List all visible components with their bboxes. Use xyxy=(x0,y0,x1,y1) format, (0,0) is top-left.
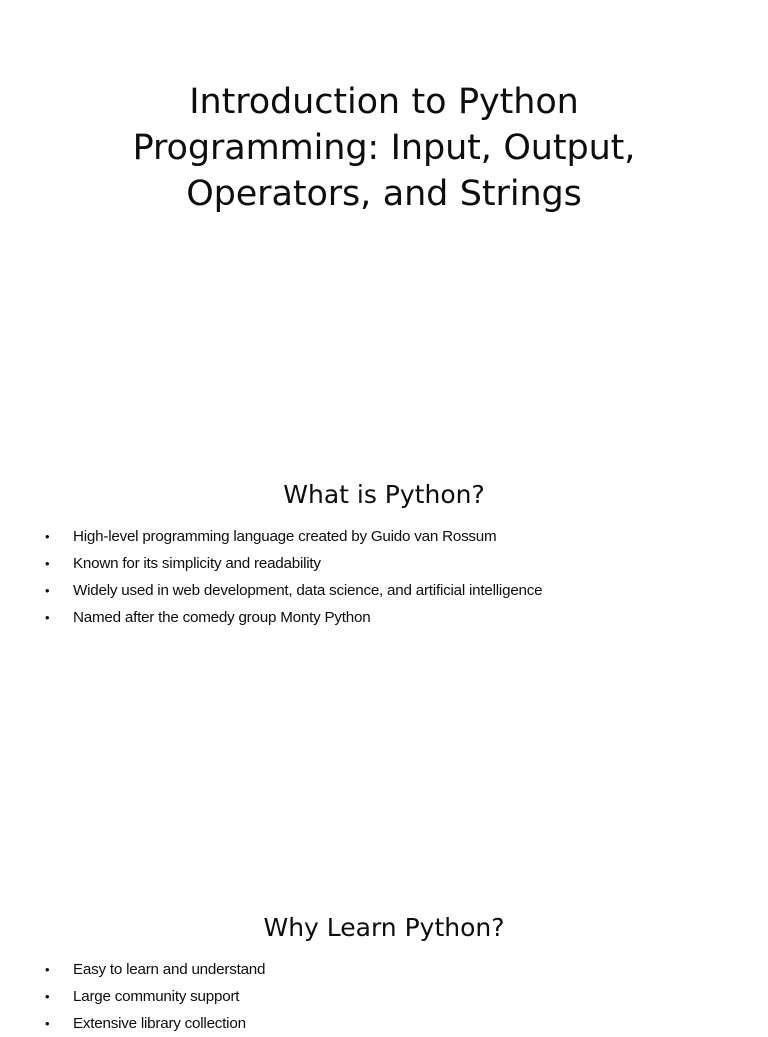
bullet-point-icon: • xyxy=(45,604,57,631)
list-item-label: Named after the comedy group Monty Pytho… xyxy=(73,604,370,631)
bullet-point-icon: • xyxy=(45,550,57,577)
slide-deck: Introduction to Python Programming: Inpu… xyxy=(0,0,768,1024)
list-item-label: Easy to learn and understand xyxy=(73,956,265,983)
list-item-label: Widely used in web development, data sci… xyxy=(73,577,542,604)
bullet-point-icon: • xyxy=(45,523,57,550)
list-item: • Easy to learn and understand xyxy=(0,956,768,983)
slide-what-is-python: What is Python? • High-level programming… xyxy=(0,470,768,903)
list-item: • Widely used in web development, data s… xyxy=(0,577,768,604)
list-item: • Large community support xyxy=(0,983,768,1010)
slide-heading-why-learn-python: Why Learn Python? xyxy=(0,903,768,945)
list-item-label: High-level programming language created … xyxy=(73,523,496,550)
bullet-point-icon: • xyxy=(45,577,57,604)
list-item-label: Large community support xyxy=(73,983,239,1010)
bullet-point-icon: • xyxy=(45,956,57,983)
title-block: Introduction to Python Programming: Inpu… xyxy=(64,79,704,217)
bullet-point-icon: • xyxy=(45,983,57,1010)
slide-why-learn-python: Why Learn Python? • Easy to learn and un… xyxy=(0,903,768,1024)
list-item: • High-level programming language create… xyxy=(0,523,768,550)
bullet-list-what-is-python: • High-level programming language create… xyxy=(0,512,768,631)
list-item: • Named after the comedy group Monty Pyt… xyxy=(0,604,768,631)
bullet-list-why-learn-python: • Easy to learn and understand • Large c… xyxy=(0,945,768,1037)
list-item: • Known for its simplicity and readabili… xyxy=(0,550,768,577)
slide-heading-what-is-python: What is Python? xyxy=(0,470,768,512)
list-item-label: Known for its simplicity and readability xyxy=(73,550,321,577)
deck-title: Introduction to Python Programming: Inpu… xyxy=(64,79,704,217)
slide-title-page: Introduction to Python Programming: Inpu… xyxy=(0,0,768,470)
